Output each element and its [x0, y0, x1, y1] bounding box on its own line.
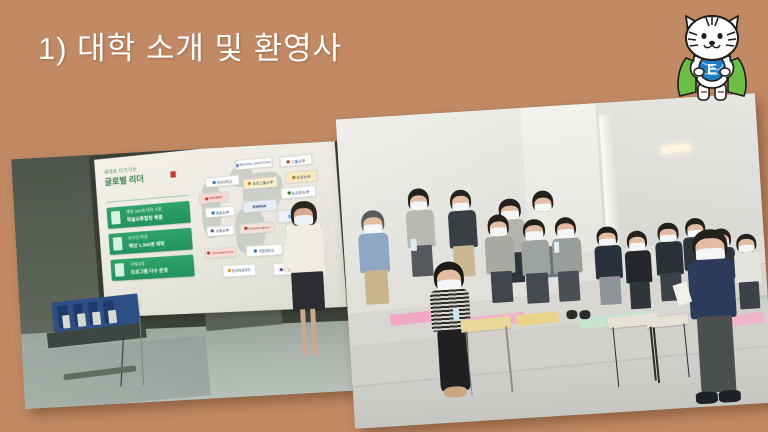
info-box: 외국인 학생 매년 1,300명 재학: [109, 228, 193, 255]
presenter-skirt: [291, 271, 325, 311]
seated-person: [620, 230, 656, 309]
partner-logo-chip: 名古屋大学: [280, 185, 316, 199]
presenter-leg: [310, 309, 318, 356]
seated-person: [354, 209, 395, 304]
info-box-icon: [115, 263, 125, 277]
info-box-label: 외국인 학생: [128, 234, 148, 241]
seated-person: [481, 214, 520, 303]
info-box-value: 매년 1,300명 재학: [129, 241, 165, 250]
info-box-value: 학술교류협정 체결: [127, 214, 163, 223]
info-box-icon: [113, 237, 123, 251]
partner-logo-chip: BEIJING JIAOTONG: [235, 157, 273, 171]
face-mask-icon: [294, 215, 313, 225]
partner-logo-chip: 국립대학교: [245, 243, 283, 257]
info-box-value: 프로그램 다수 운영: [131, 267, 169, 275]
university-tiger-mascot-icon: E: [666, 6, 758, 108]
info-box: 국제교류 프로그램 다수 운영: [110, 254, 194, 281]
partner-logo-chip: 筑波大学: [204, 206, 236, 219]
partner-logo-chip: RENMIN: [198, 192, 229, 205]
partner-logo-chip: 한국해양대학: [222, 263, 257, 277]
audience-auditorium-photo: [336, 93, 768, 429]
water-bottle: [554, 242, 560, 253]
shoes-on-floor: [566, 309, 577, 319]
slide-canvas: 1) 대학 소개 및 환영사 E: [0, 0, 768, 432]
shoes-on-floor: [579, 310, 590, 320]
seated-person: [548, 216, 587, 302]
partner-logo-chip: EWHA: [242, 199, 277, 214]
partner-logo-chip: 大阪大学: [206, 224, 235, 237]
page-title: 1) 대학 소개 및 환영사: [38, 30, 342, 69]
partner-logo-chip: 工業大學: [279, 154, 312, 168]
partner-logo-chip: 北京大学: [285, 170, 319, 184]
presenter-leg: [300, 309, 308, 356]
university-introduction-presentation-photo: 세계로 다가가는 글로벌 리더 해외 300개 대학 기관 학술교류협정 체결 …: [11, 141, 354, 409]
standing-speaker: [681, 228, 746, 405]
korea-flag-marker-icon: [170, 171, 176, 178]
water-bottle: [453, 307, 460, 320]
presenter-blouse: [287, 224, 324, 275]
partner-logo-chip: Chulalongkorn: [240, 221, 275, 234]
info-box: 해외 300개 대학 기관 학술교류협정 체결: [107, 201, 191, 229]
folding-table: [646, 314, 694, 380]
partner-logo-chip: UNIVERSITAS: [205, 246, 237, 259]
svg-text:E: E: [707, 61, 717, 78]
water-bottle: [411, 239, 418, 252]
info-box-icon: [111, 210, 121, 224]
female-presenter: [278, 199, 336, 357]
folding-table: [461, 316, 518, 395]
info-box-label: 국제교류: [130, 261, 145, 268]
